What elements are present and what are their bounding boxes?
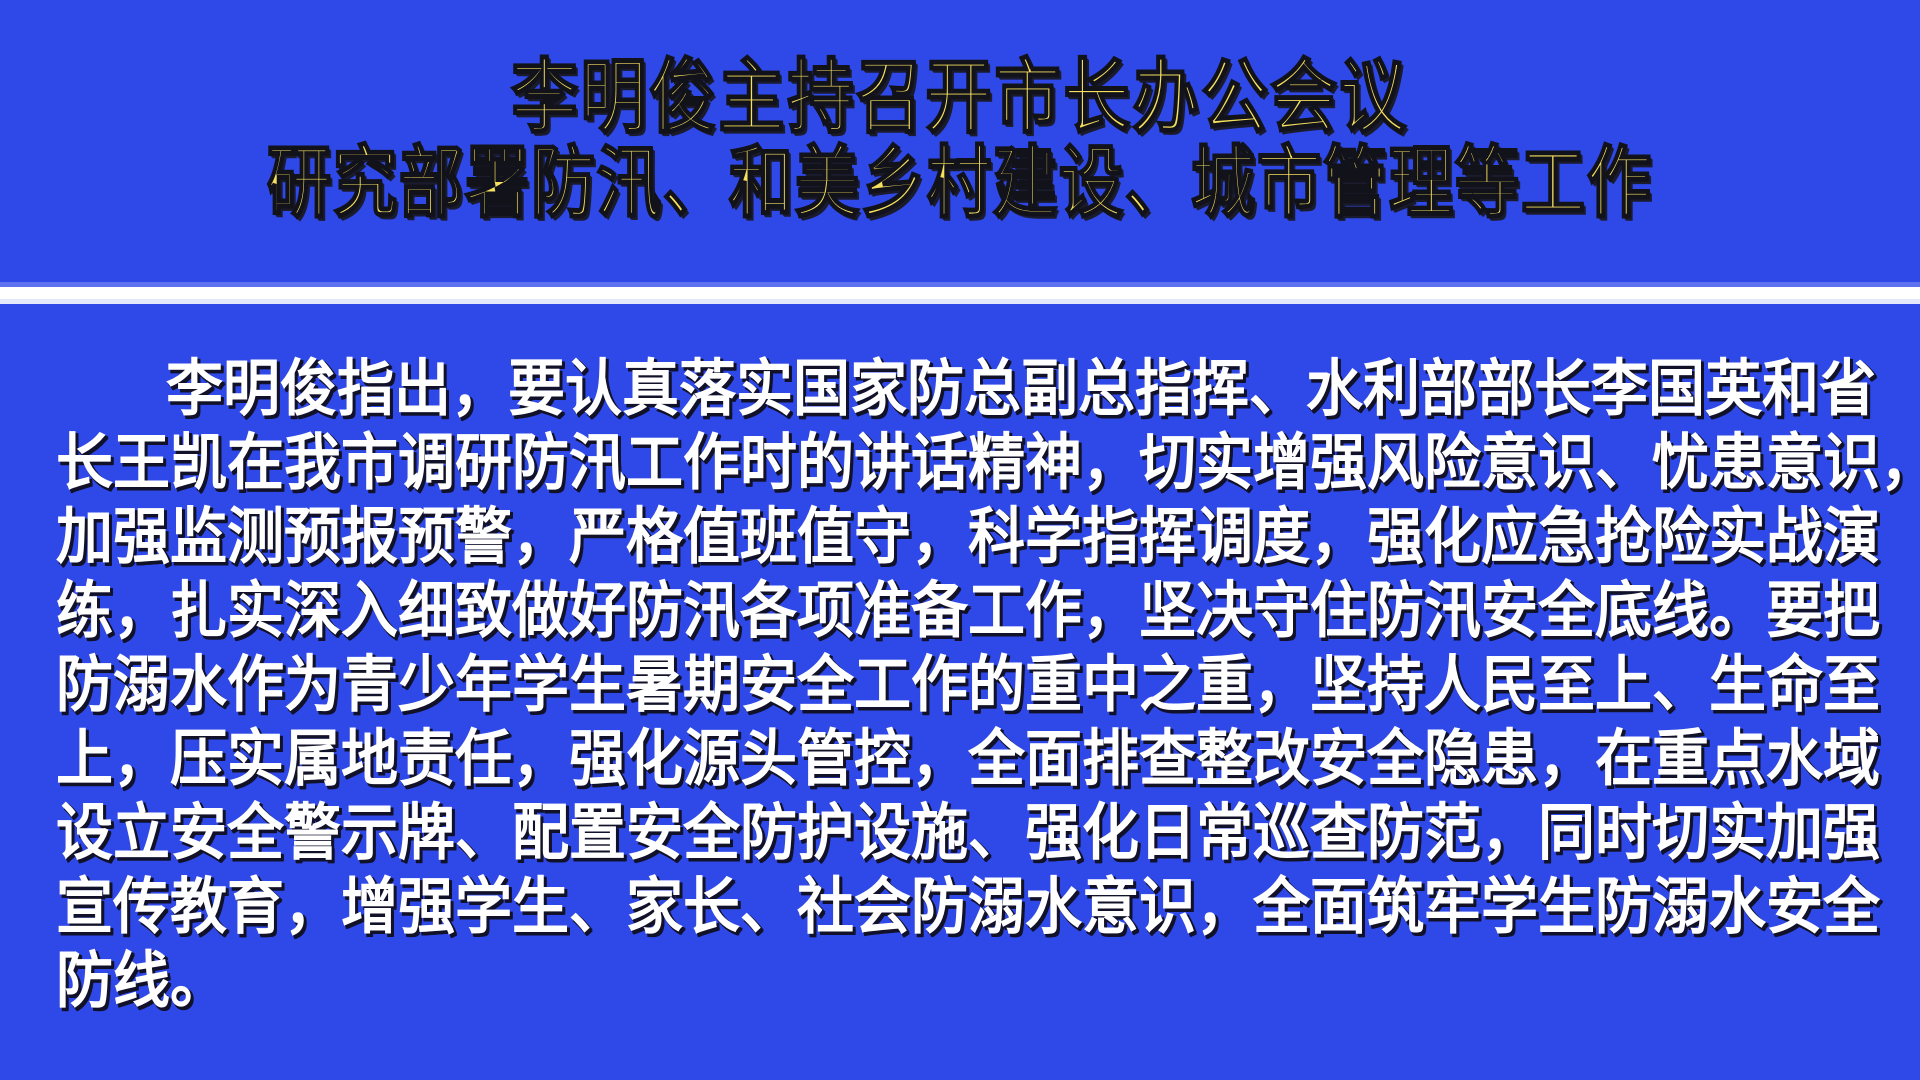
divider-band-pale [0, 299, 1920, 304]
body-line: 上，压实属地责任，强化源头管控，全面排查整改安全隐患，在重点水域 [56, 719, 1868, 799]
body-line: 加强监测预报预警，严格值班值守，科学指挥调度，强化应急抢险实战演 [56, 497, 1868, 577]
body-line: 防线。 [56, 941, 1868, 1021]
divider-band-white [0, 287, 1920, 299]
title-body-divider [0, 282, 1920, 304]
body-line: 练，扎实深入细致做好防汛各项准备工作，坚决守住防汛安全底线。要把 [56, 571, 1868, 651]
body-line: 李明俊指出，要认真落实国家防总副总指挥、水利部部长李国英和省 [56, 349, 1868, 429]
body-line: 防溺水作为青少年学生暑期安全工作的重中之重，坚持人民至上、生命至 [56, 645, 1868, 725]
title-line-2: 研究部署防汛、和美乡村建设、城市管理等工作 [267, 139, 1653, 231]
body-line: 长王凯在我市调研防汛工作时的讲话精神，切实增强风险意识、忧患意识， [56, 423, 1868, 503]
news-slide: 李明俊主持召开市长办公会议 研究部署防汛、和美乡村建设、城市管理等工作 李明俊指… [0, 0, 1920, 1080]
body-block: 李明俊指出，要认真落实国家防总副总指挥、水利部部长李国英和省 长王凯在我市调研防… [0, 312, 1920, 1072]
title-block: 李明俊主持召开市长办公会议 研究部署防汛、和美乡村建设、城市管理等工作 [0, 0, 1920, 282]
body-line: 设立安全警示牌、配置安全防护设施、强化日常巡查防范，同时切实加强 [56, 793, 1868, 873]
title-line-1: 李明俊主持召开市长办公会议 [512, 51, 1409, 146]
body-line: 宣传教育，增强学生、家长、社会防溺水意识，全面筑牢学生防溺水安全 [56, 867, 1868, 947]
